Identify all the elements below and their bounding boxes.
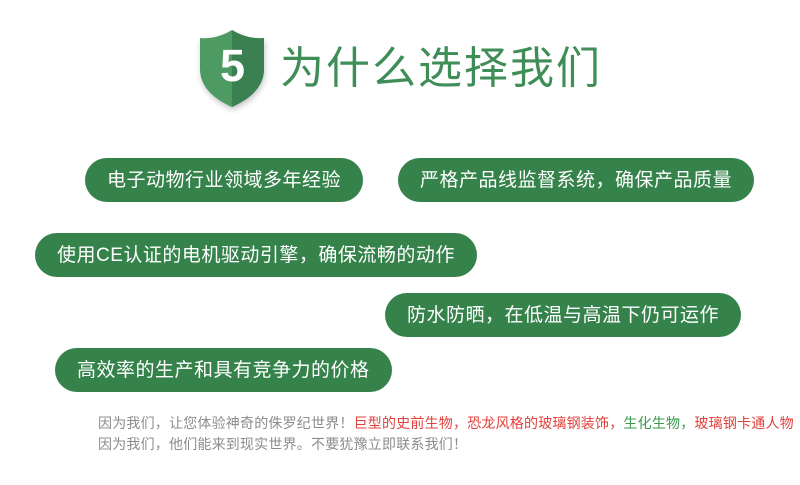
feature-pill-5[interactable]: 高效率的生产和具有竞争力的价格 [55, 348, 392, 392]
shield-badge: 5 [198, 29, 266, 109]
footer-line1-part2: 巨型的史前生物，恐龙风格的玻璃钢装饰， [354, 415, 624, 431]
feature-pill-2[interactable]: 严格产品线监督系统，确保产品质量 [398, 158, 754, 202]
page-title: 为什么选择我们 [280, 47, 602, 91]
feature-pill-1[interactable]: 电子动物行业领域多年经验 [85, 158, 363, 202]
feature-pill-3[interactable]: 使用CE认证的电机驱动引擎，确保流畅的动作 [35, 233, 477, 277]
footer-line-2: 因为我们，他们能来到现实世界。不要犹豫立即联系我们！ [98, 434, 758, 455]
feature-pill-4[interactable]: 防水防晒，在低温与高温下仍可运作 [385, 293, 741, 337]
footer-text: 因为我们，让您体验神奇的侏罗纪世界！巨型的史前生物，恐龙风格的玻璃钢装饰，生化生… [98, 413, 758, 455]
badge-number: 5 [198, 29, 266, 103]
footer-line1-part3: 生化生物， [623, 415, 694, 431]
footer-line1-part1: 因为我们，让您体验神奇的侏罗纪世界！ [98, 415, 354, 431]
page-header: 5 为什么选择我们 [0, 26, 800, 112]
footer-line1-part4: 玻璃钢卡通人物 [694, 415, 793, 431]
feature-pill-list: 电子动物行业领域多年经验 严格产品线监督系统，确保产品质量 使用CE认证的电机驱… [0, 148, 800, 398]
footer-line-1: 因为我们，让您体验神奇的侏罗纪世界！巨型的史前生物，恐龙风格的玻璃钢装饰，生化生… [98, 413, 758, 434]
